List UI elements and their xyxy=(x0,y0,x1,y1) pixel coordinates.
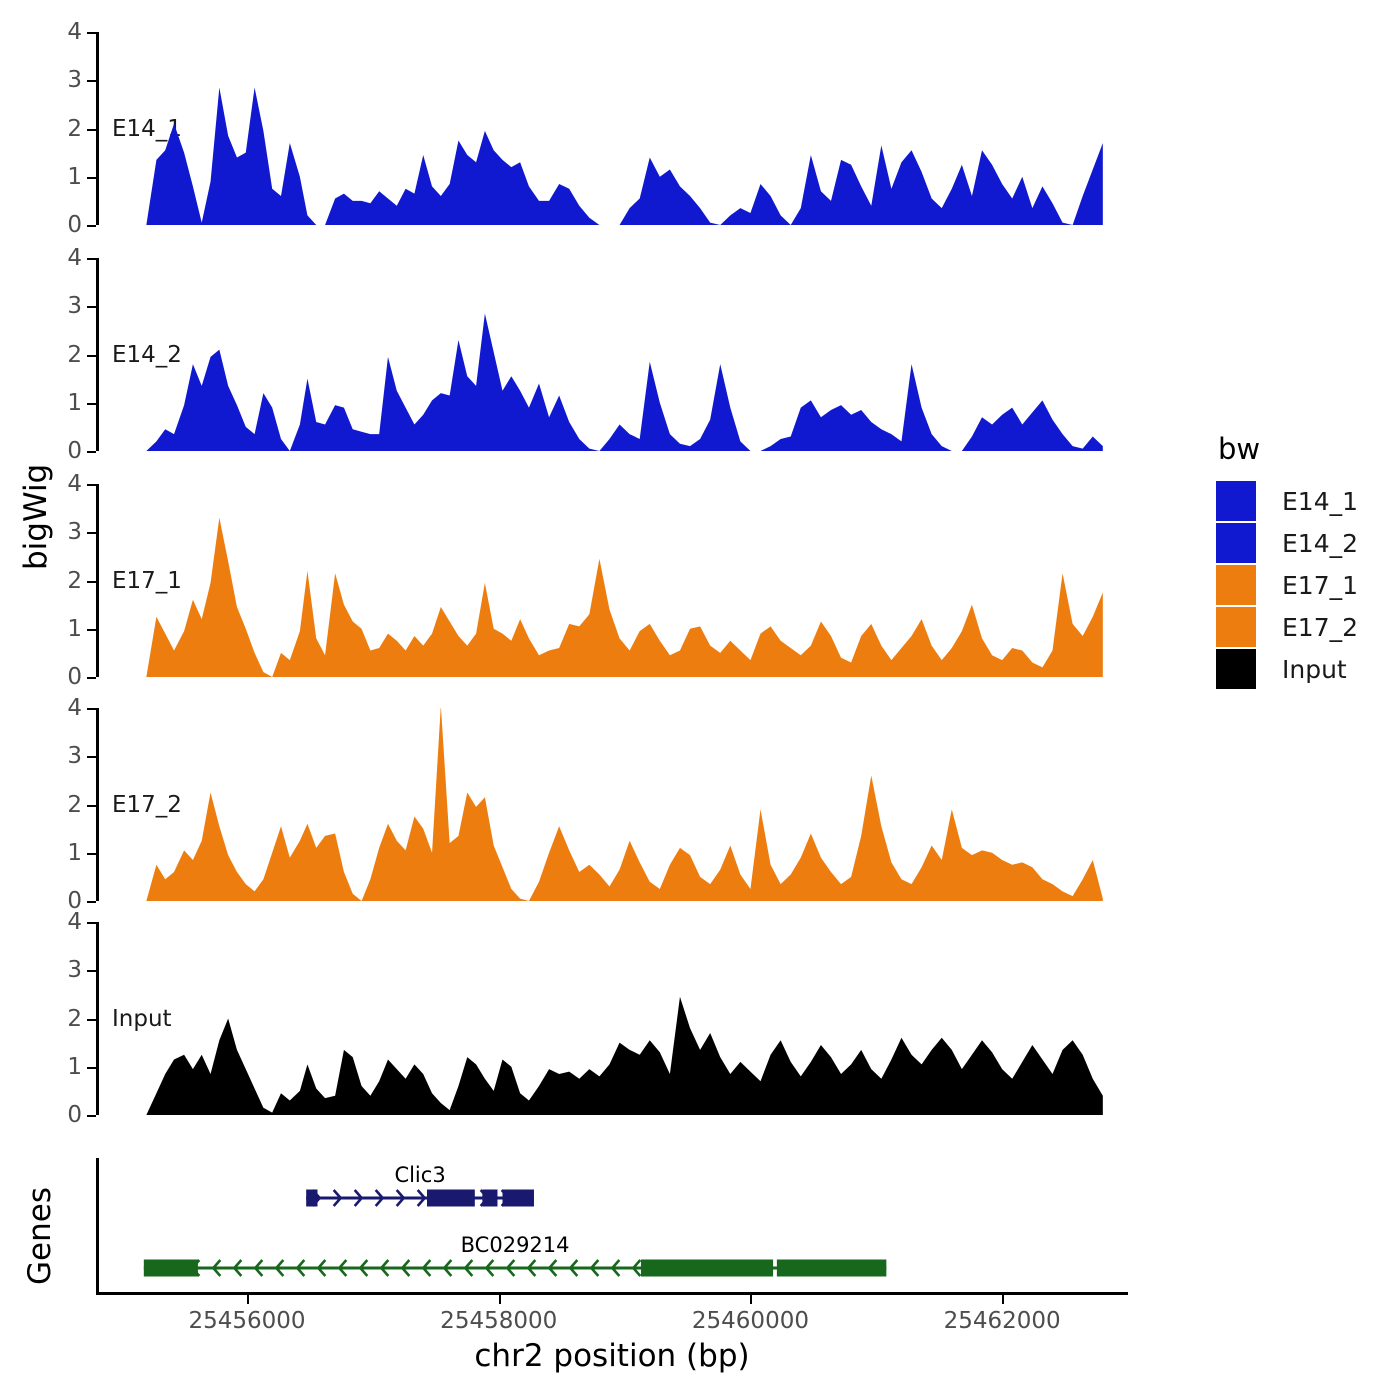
y-tick-label: 1 xyxy=(67,164,82,190)
x-tick xyxy=(247,1295,249,1304)
legend-item-e17_2[interactable]: E17_2 xyxy=(1216,606,1358,648)
exon-block xyxy=(503,1190,534,1207)
genome-browser-figure: bigWig Genes 01234E14_101234E14_201234E1… xyxy=(0,0,1400,1400)
signal-track-e14_1: 01234E14_1 xyxy=(96,32,1128,225)
y-tick xyxy=(87,306,96,308)
legend-items: E14_1E14_2E17_1E17_2Input xyxy=(1216,480,1358,690)
y-tick-label: 3 xyxy=(67,67,82,93)
y-tick xyxy=(87,258,96,260)
signal-area-e17_2 xyxy=(96,708,1128,901)
x-tick-label: 25462000 xyxy=(944,1308,1061,1334)
x-tick-label: 25456000 xyxy=(188,1308,305,1334)
legend-swatch-input xyxy=(1216,649,1256,689)
y-tick-label: 3 xyxy=(67,957,82,983)
y-tick-label: 4 xyxy=(67,909,82,935)
legend-swatch-e17_1 xyxy=(1216,565,1256,605)
y-tick-label: 2 xyxy=(67,342,82,368)
y-tick xyxy=(87,532,96,534)
gene-bc029214[interactable]: BC029214 xyxy=(144,1233,887,1277)
y-tick-label: 2 xyxy=(67,568,82,594)
y-tick-label: 1 xyxy=(67,616,82,642)
y-tick xyxy=(87,355,96,357)
y-tick xyxy=(87,1067,96,1069)
y-tick-label: 2 xyxy=(67,792,82,818)
y-tick xyxy=(87,80,96,82)
legend-swatch-e14_1 xyxy=(1216,481,1256,521)
y-tick-label: 1 xyxy=(67,390,82,416)
exon-block xyxy=(144,1260,198,1277)
y-tick xyxy=(87,677,96,679)
legend-label-e14_1: E14_1 xyxy=(1282,487,1358,516)
y-tick-label: 0 xyxy=(67,438,82,464)
y-tick xyxy=(87,970,96,972)
y-tick-label: 4 xyxy=(67,245,82,271)
genes-svg: Clic3BC029214 xyxy=(96,1158,1128,1292)
x-axis-title: chr2 position (bp) xyxy=(96,1338,1128,1374)
y-tick-label: 2 xyxy=(67,1006,82,1032)
y-tick xyxy=(87,32,96,34)
y-tick xyxy=(87,484,96,486)
legend-item-e17_1[interactable]: E17_1 xyxy=(1216,564,1358,606)
exon-block xyxy=(427,1190,475,1207)
y-tick-label: 0 xyxy=(67,1102,82,1128)
exon-block xyxy=(777,1260,886,1277)
y-tick-label: 0 xyxy=(67,664,82,690)
y-tick xyxy=(87,451,96,453)
y-tick-label: 1 xyxy=(67,1054,82,1080)
y-tick-label: 4 xyxy=(67,695,82,721)
legend-label-input: Input xyxy=(1282,655,1347,684)
legend-label-e17_2: E17_2 xyxy=(1282,613,1358,642)
signal-track-input: 01234Input xyxy=(96,922,1128,1115)
y-tick-label: 3 xyxy=(67,743,82,769)
y-tick-label: 3 xyxy=(67,293,82,319)
y-tick-label: 1 xyxy=(67,840,82,866)
gene-label-bc029214: BC029214 xyxy=(461,1233,570,1257)
y-tick xyxy=(87,129,96,131)
y-axis-label-bigwig: bigWig xyxy=(18,464,54,570)
x-axis-line xyxy=(96,1292,1128,1295)
legend: bw E14_1E14_2E17_1E17_2Input xyxy=(1216,432,1358,690)
y-tick xyxy=(87,1019,96,1021)
y-tick xyxy=(87,403,96,405)
signal-area-input xyxy=(96,922,1128,1115)
legend-title: bw xyxy=(1218,432,1358,466)
y-tick xyxy=(87,629,96,631)
x-tick xyxy=(499,1295,501,1304)
x-tick-label: 25460000 xyxy=(692,1308,809,1334)
y-tick-label: 3 xyxy=(67,519,82,545)
y-tick-label: 4 xyxy=(67,471,82,497)
gene-label-clic3: Clic3 xyxy=(394,1163,445,1187)
x-tick xyxy=(1002,1295,1004,1304)
gene-annotation-panel: Clic3BC029214 xyxy=(96,1158,1128,1292)
exon-block xyxy=(306,1190,317,1207)
signal-track-e14_2: 01234E14_2 xyxy=(96,258,1128,451)
legend-label-e14_2: E14_2 xyxy=(1282,529,1358,558)
y-tick xyxy=(87,922,96,924)
x-tick-label: 25458000 xyxy=(440,1308,557,1334)
y-tick xyxy=(87,225,96,227)
y-tick xyxy=(87,581,96,583)
signal-area-e14_2 xyxy=(96,258,1128,451)
y-tick xyxy=(87,901,96,903)
exon-block xyxy=(641,1260,773,1277)
legend-item-input[interactable]: Input xyxy=(1216,648,1358,690)
exon-block xyxy=(482,1190,497,1207)
signal-area-e14_1 xyxy=(96,32,1128,225)
signal-area-e17_1 xyxy=(96,484,1128,677)
y-tick-label: 4 xyxy=(67,19,82,45)
y-tick xyxy=(87,1115,96,1117)
y-tick-label: 2 xyxy=(67,116,82,142)
x-tick xyxy=(750,1295,752,1304)
signal-track-e17_1: 01234E17_1 xyxy=(96,484,1128,677)
x-axis: 25456000254580002546000025462000 xyxy=(96,1292,1128,1293)
y-tick xyxy=(87,177,96,179)
legend-item-e14_1[interactable]: E14_1 xyxy=(1216,480,1358,522)
legend-label-e17_1: E17_1 xyxy=(1282,571,1358,600)
signal-track-e17_2: 01234E17_2 xyxy=(96,708,1128,901)
legend-swatch-e14_2 xyxy=(1216,523,1256,563)
legend-swatch-e17_2 xyxy=(1216,607,1256,647)
gene-clic3[interactable]: Clic3 xyxy=(306,1163,534,1207)
y-tick xyxy=(87,805,96,807)
y-tick xyxy=(87,756,96,758)
y-tick xyxy=(87,853,96,855)
y-axis-label-genes: Genes xyxy=(22,1187,58,1285)
y-tick-label: 0 xyxy=(67,212,82,238)
y-tick xyxy=(87,708,96,710)
legend-item-e14_2[interactable]: E14_2 xyxy=(1216,522,1358,564)
